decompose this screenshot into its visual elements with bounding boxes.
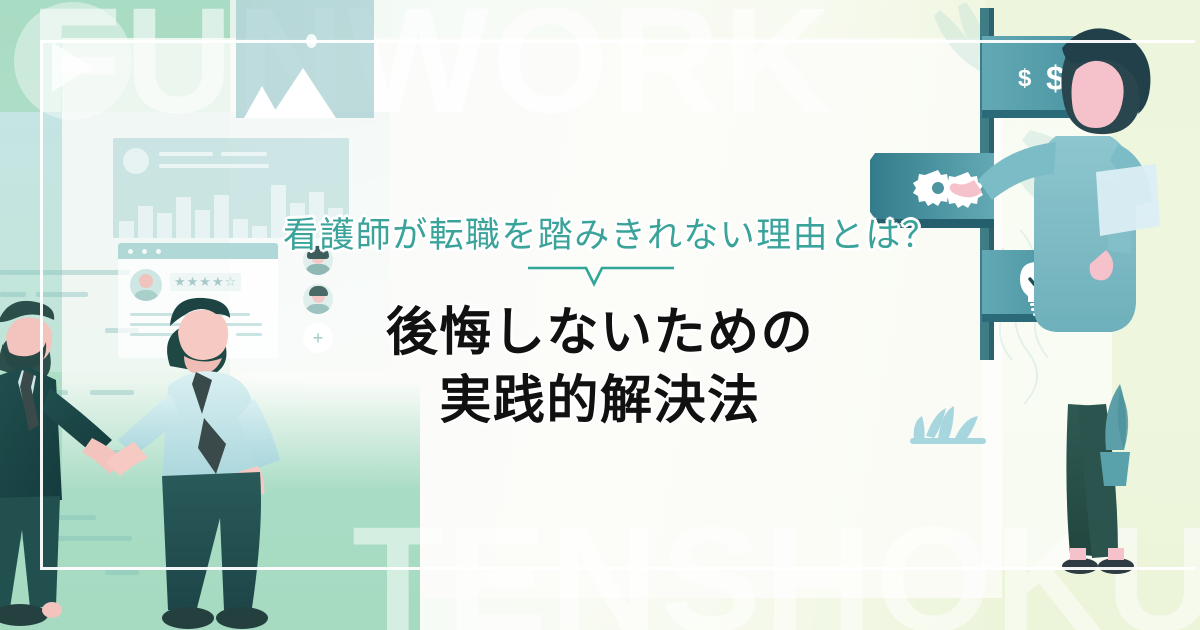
divider-ornament <box>528 262 674 288</box>
svg-text:$: $ <box>1018 65 1032 92</box>
dashboard-bar <box>233 219 248 238</box>
media-thumbnail <box>236 0 374 118</box>
watermark-top: FUNWORK <box>30 0 834 147</box>
mountain-icon <box>270 68 336 118</box>
og-card-canvas: FUNWORK TENSHOKU <box>0 0 1200 630</box>
dashboard-bar <box>214 195 229 238</box>
dashboard-bar <box>252 226 267 238</box>
dashboard-bar <box>119 221 134 238</box>
dashboard-bar <box>138 206 153 238</box>
dashboard-bar <box>157 213 172 238</box>
page-title: 後悔しないための 実践的解決法 <box>0 300 1200 435</box>
play-icon <box>52 42 92 92</box>
headline-line-1: 後悔しないための <box>0 300 1200 368</box>
dashboard-bar <box>195 210 210 238</box>
card-titlebar <box>118 243 278 259</box>
dashboard-avatar <box>123 148 149 174</box>
card-subtitle: 看護師が転職を踏みきれない理由とは？ <box>283 207 938 258</box>
dashboard-bar <box>176 197 191 238</box>
sun-icon <box>306 34 317 48</box>
headline-line-2: 実践的解決法 <box>0 368 1200 436</box>
